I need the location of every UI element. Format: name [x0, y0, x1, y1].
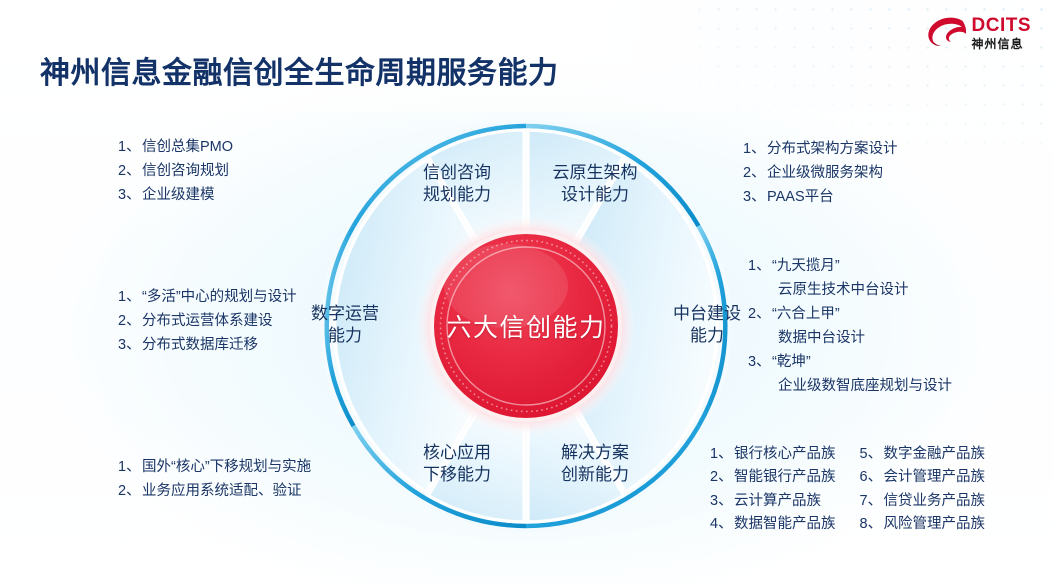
list-item: 5、 数字金融产品族 [860, 443, 986, 466]
list-item-text: “九天揽月” [772, 255, 840, 279]
list-item-text: 会计管理产品族 [884, 466, 986, 489]
list-item-text: “乾坤” [772, 351, 811, 375]
list-item-number: 1、 [118, 286, 142, 310]
list-item-subtext: 企业级数智底座规划与设计 [748, 375, 952, 399]
list-cloud-native-capability: 1、 分布式架构方案设计 2、 企业级微服务架构 3、 PAAS平台 [743, 138, 898, 210]
label-line-2: 规划能力 [394, 184, 520, 206]
six-capabilities-donut-diagram: 信创咨询 规划能力 云原生架构 设计能力 中台建设 能力 解决方案 创新能力 核… [318, 118, 734, 534]
list-item-text: 企业级微服务架构 [767, 162, 883, 186]
list-item-text: 分布式运营体系建设 [142, 310, 273, 334]
list-item: 1、 银行核心产品族 [710, 443, 836, 466]
list-item: 4、 数据智能产品族 [710, 513, 836, 536]
list-item-text: 云计算产品族 [734, 490, 821, 513]
label-line-1: 中台建设 [652, 303, 762, 325]
list-item-text: 智能银行产品族 [734, 466, 836, 489]
brand-name-cn: 神州信息 [972, 38, 1032, 50]
segment-label-midend-construction[interactable]: 中台建设 能力 [652, 303, 762, 347]
list-item: 1、 “九天揽月” [748, 255, 952, 279]
list-item-number: 7、 [860, 490, 884, 513]
list-item-text: 信创咨询规划 [142, 160, 229, 184]
list-item-text: 分布式数据库迁移 [142, 334, 258, 358]
dcits-swoosh-icon [926, 16, 966, 50]
list-item-text: “多活”中心的规划与设计 [142, 286, 297, 310]
list-item-number: 1、 [710, 443, 734, 466]
list-item-text: 分布式架构方案设计 [767, 138, 898, 162]
list-item-number: 2、 [748, 303, 772, 327]
list-item-number: 3、 [118, 334, 142, 358]
list-consulting-capability: 1、 信创总集PMO 2、 信创咨询规划 3、 企业级建模 [118, 136, 233, 208]
list-item: 2、 业务应用系统适配、验证 [118, 480, 311, 504]
segment-label-solution-innovation[interactable]: 解决方案 创新能力 [532, 442, 658, 486]
list-item-number: 2、 [118, 480, 142, 504]
list-item-number: 1、 [748, 255, 772, 279]
list-item-text: “六合上甲” [772, 303, 840, 327]
list-midend-construction-capability: 1、 “九天揽月” 云原生技术中台设计 2、 “六合上甲” 数据中台设计 3、 … [748, 255, 952, 399]
list-item-number: 1、 [118, 456, 142, 480]
list-item-number: 2、 [118, 310, 142, 334]
list-item-number: 1、 [118, 136, 142, 160]
list-item: 1、 分布式架构方案设计 [743, 138, 898, 162]
list-item-text: 银行核心产品族 [734, 443, 836, 466]
list-item-text: 信创总集PMO [142, 136, 233, 160]
list-digital-operation-capability: 1、 “多活”中心的规划与设计 2、 分布式运营体系建设 3、 分布式数据库迁移 [118, 286, 297, 358]
list-item: 3、 PAAS平台 [743, 186, 898, 210]
list-item-text: 信贷业务产品族 [884, 490, 986, 513]
list-item: 2、 智能银行产品族 [710, 466, 836, 489]
list-item: 2、 分布式运营体系建设 [118, 310, 297, 334]
segment-label-xinchuang-consulting[interactable]: 信创咨询 规划能力 [394, 162, 520, 206]
list-item: 3、 企业级建模 [118, 184, 233, 208]
page-title: 神州信息金融信创全生命周期服务能力 [40, 48, 559, 92]
list-item-number: 8、 [860, 513, 884, 536]
brand-wordmark: DCITS 神州信息 [972, 16, 1032, 50]
product-family-column-1: 1、 银行核心产品族 2、 智能银行产品族 3、 云计算产品族 4、 数据智能产… [710, 443, 836, 537]
list-solution-product-families: 1、 银行核心产品族 2、 智能银行产品族 3、 云计算产品族 4、 数据智能产… [710, 443, 985, 537]
label-line-2: 下移能力 [394, 464, 520, 486]
label-line-1: 信创咨询 [394, 162, 520, 184]
list-item: 1、 信创总集PMO [118, 136, 233, 160]
segment-label-core-app-downshift[interactable]: 核心应用 下移能力 [394, 442, 520, 486]
list-item-text: 风险管理产品族 [884, 513, 986, 536]
segment-label-cloud-native-architecture[interactable]: 云原生架构 设计能力 [532, 162, 658, 206]
list-item-number: 6、 [860, 466, 884, 489]
brand-name-en: DCITS [972, 16, 1032, 35]
list-item: 7、 信贷业务产品族 [860, 490, 986, 513]
list-item: 3、 分布式数据库迁移 [118, 334, 297, 358]
list-item-number: 3、 [743, 186, 767, 210]
list-item-subtext: 云原生技术中台设计 [748, 279, 952, 303]
list-item-number: 2、 [710, 466, 734, 489]
segment-label-digital-operation[interactable]: 数字运营 能力 [290, 303, 400, 347]
label-line-1: 核心应用 [394, 442, 520, 464]
label-line-2: 创新能力 [532, 464, 658, 486]
list-item: 1、 国外“核心”下移规划与实施 [118, 456, 311, 480]
list-item-number: 3、 [748, 351, 772, 375]
label-line-2: 能力 [290, 325, 400, 347]
list-item-text: 业务应用系统适配、验证 [142, 480, 302, 504]
list-item-number: 3、 [118, 184, 142, 208]
list-item: 6、 会计管理产品族 [860, 466, 986, 489]
label-line-2: 设计能力 [532, 184, 658, 206]
list-item: 2、 企业级微服务架构 [743, 162, 898, 186]
list-item: 1、 “多活”中心的规划与设计 [118, 286, 297, 310]
label-line-1: 云原生架构 [532, 162, 658, 184]
list-item-text: PAAS平台 [767, 186, 834, 210]
list-item: 8、 风险管理产品族 [860, 513, 986, 536]
list-item-number: 1、 [743, 138, 767, 162]
list-item: 2、 “六合上甲” [748, 303, 952, 327]
list-item-number: 5、 [860, 443, 884, 466]
label-line-1: 解决方案 [532, 442, 658, 464]
list-item: 3、 云计算产品族 [710, 490, 836, 513]
list-item-text: 国外“核心”下移规划与实施 [142, 456, 311, 480]
core-label: 六大信创能力 [426, 308, 626, 344]
label-line-1: 数字运营 [290, 303, 400, 325]
list-item-number: 2、 [118, 160, 142, 184]
list-item-text: 企业级建模 [142, 184, 215, 208]
product-family-column-2: 5、 数字金融产品族 6、 会计管理产品族 7、 信贷业务产品族 8、 风险管理… [860, 443, 986, 537]
list-item-text: 数字金融产品族 [884, 443, 986, 466]
list-item-number: 2、 [743, 162, 767, 186]
label-line-2: 能力 [652, 325, 762, 347]
list-core-app-downshift-capability: 1、 国外“核心”下移规划与实施 2、 业务应用系统适配、验证 [118, 456, 311, 504]
list-item-number: 4、 [710, 513, 734, 536]
list-item-number: 3、 [710, 490, 734, 513]
list-item: 2、 信创咨询规划 [118, 160, 233, 184]
list-item-text: 数据智能产品族 [734, 513, 836, 536]
list-item: 3、 “乾坤” [748, 351, 952, 375]
brand-logo: DCITS 神州信息 [926, 16, 1032, 50]
list-item-subtext: 数据中台设计 [748, 327, 952, 351]
